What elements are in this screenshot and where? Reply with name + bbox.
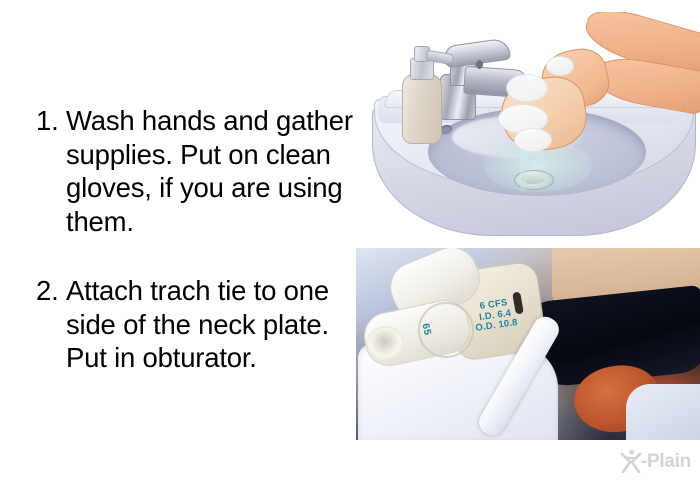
slide-canvas: 1. Wash hands and gather supplies. Put o… (0, 0, 700, 480)
list-item: 2. Attach trach tie to one side of the n… (36, 274, 366, 375)
handwashing-illustration (356, 12, 700, 240)
step-text: Attach trach tie to one side of the neck… (66, 274, 366, 375)
background-cloth-icon (626, 384, 700, 440)
soap-suds-icon (546, 56, 574, 76)
soap-suds-icon (514, 128, 552, 152)
step-text: Wash hands and gather supplies. Put on c… (66, 104, 366, 238)
step-number: 1. (36, 104, 66, 138)
xplain-logo: -Plain (620, 448, 696, 474)
logo-text: -Plain (641, 452, 691, 471)
soap-dispenser-bottle-icon (402, 74, 442, 144)
x-figure-icon (620, 449, 642, 473)
faucet-screw-icon (476, 60, 483, 69)
step-number: 2. (36, 274, 66, 308)
trach-scene: 6 CFS I.D. 6.4 O.D. 10.8 65 (356, 248, 700, 440)
trach-tube-marking: 6 CFS I.D. 6.4 O.D. 10.8 (472, 297, 518, 334)
soap-suds-icon (506, 74, 548, 102)
handwashing-scene (356, 12, 700, 240)
tracheostomy-photo: 6 CFS I.D. 6.4 O.D. 10.8 65 (356, 248, 700, 440)
instruction-list: 1. Wash hands and gather supplies. Put o… (36, 104, 366, 375)
trach-tube-side-label: 65 (419, 322, 432, 336)
list-item: 1. Wash hands and gather supplies. Put o… (36, 104, 366, 238)
